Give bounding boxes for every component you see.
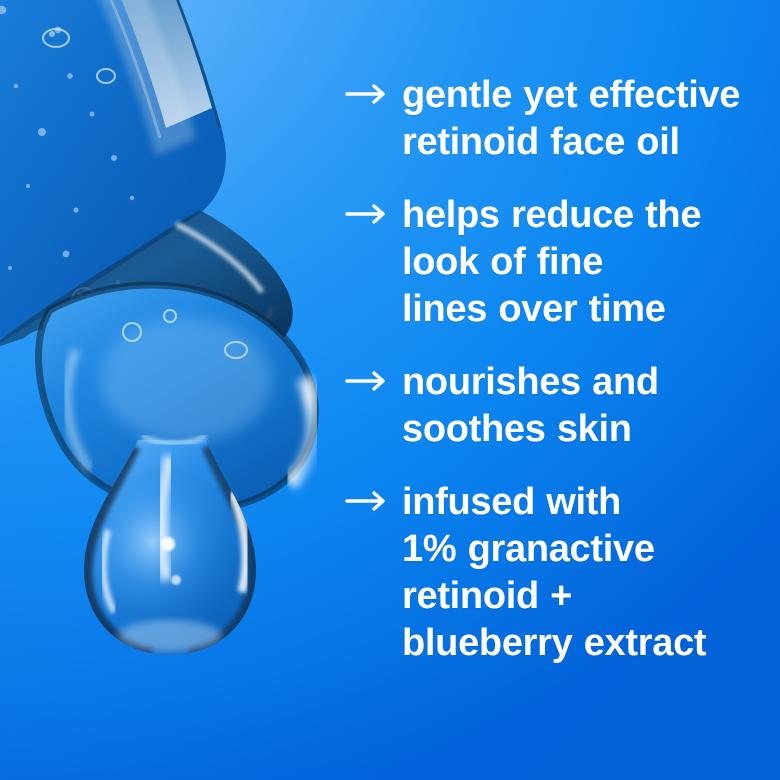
- list-item: nourishes and soothes skin: [345, 359, 765, 453]
- list-item-text: gentle yet effective retinoid face oil: [402, 72, 765, 166]
- arrow-right-icon: [345, 203, 389, 225]
- product-benefits-graphic: gentle yet effective retinoid face oil h…: [0, 0, 780, 780]
- arrow-right-icon: [345, 83, 389, 105]
- list-item: infused with 1% granactive retinoid + bl…: [345, 479, 765, 667]
- benefit-list: gentle yet effective retinoid face oil h…: [345, 72, 765, 667]
- list-item-text: infused with 1% granactive retinoid + bl…: [402, 479, 765, 667]
- arrow-right-icon: [345, 370, 389, 392]
- arrow-right-icon: [345, 490, 389, 512]
- list-item-text: helps reduce the look of fine lines over…: [402, 192, 765, 333]
- list-item-text: nourishes and soothes skin: [402, 359, 765, 453]
- list-item: helps reduce the look of fine lines over…: [345, 192, 765, 333]
- list-item: gentle yet effective retinoid face oil: [345, 72, 765, 166]
